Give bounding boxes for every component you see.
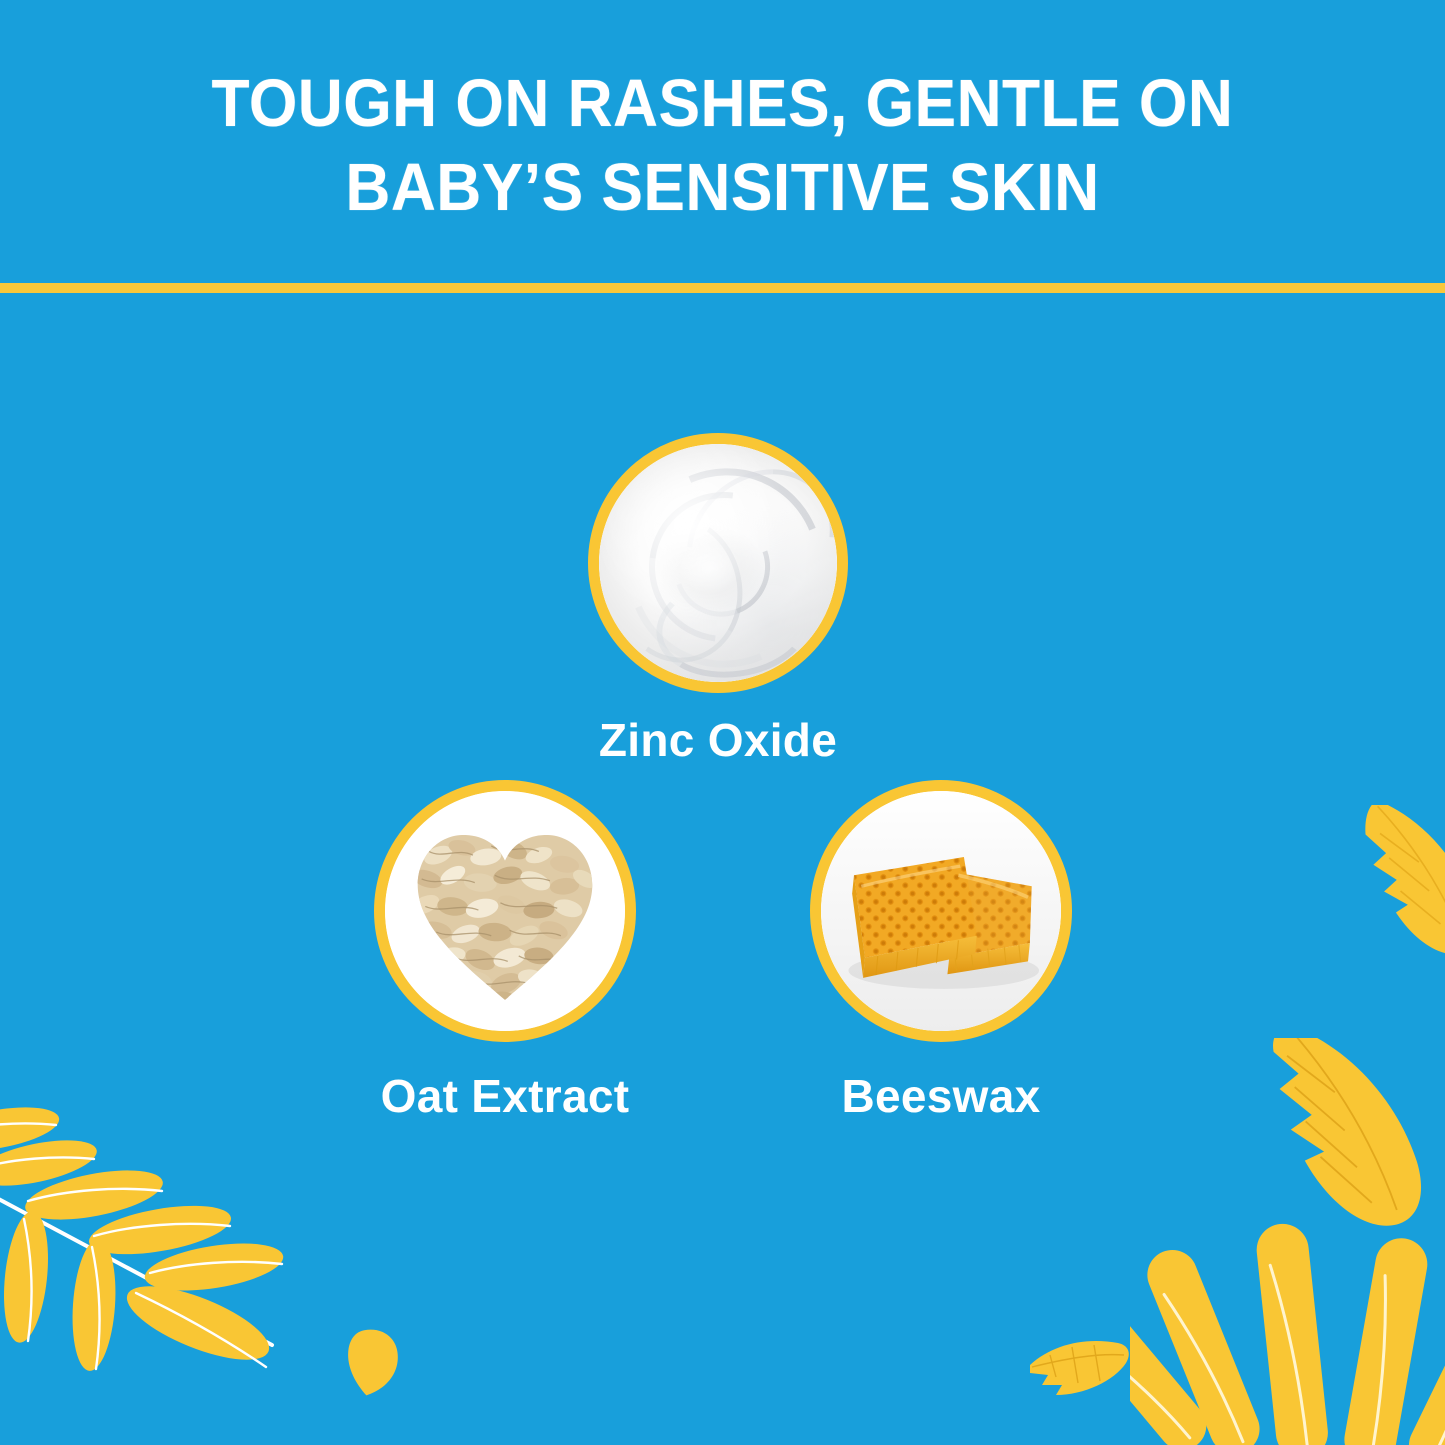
honeycomb-blocks-image <box>821 791 1061 1031</box>
palm-frond-fan-bottom-right <box>1130 1185 1445 1445</box>
label-oat-extract: Oat Extract <box>305 1068 705 1124</box>
ingredient-beeswax <box>810 780 1072 1042</box>
headline-line-2: BABY’S SENSITIVE SKIN <box>345 146 1099 230</box>
yellow-divider-rule <box>0 283 1445 293</box>
header-banner: TOUGH ON RASHES, GENTLE ON BABY’S SENSIT… <box>0 0 1445 283</box>
oat-flakes-heart-image <box>385 791 625 1031</box>
label-zinc-oxide: Zinc Oxide <box>518 712 918 768</box>
banana-leaf-right-edge <box>1340 805 1445 970</box>
oat-extract-circle <box>374 780 636 1042</box>
ingredient-zinc-oxide <box>588 433 848 693</box>
banana-leaf-bottom-right <box>1238 1038 1445 1278</box>
ingredient-oat-extract <box>374 780 636 1042</box>
beeswax-circle <box>810 780 1072 1042</box>
white-cream-swirl-image <box>599 444 837 682</box>
label-beeswax: Beeswax <box>741 1068 1141 1124</box>
heart-leaf-bottom-left <box>337 1328 409 1402</box>
small-banana-leaf-bottom-center <box>1022 1333 1134 1403</box>
headline-line-1: TOUGH ON RASHES, GENTLE ON <box>212 62 1234 146</box>
ingredient-infographic: TOUGH ON RASHES, GENTLE ON BABY’S SENSIT… <box>0 0 1445 1445</box>
zinc-oxide-circle <box>588 433 848 693</box>
